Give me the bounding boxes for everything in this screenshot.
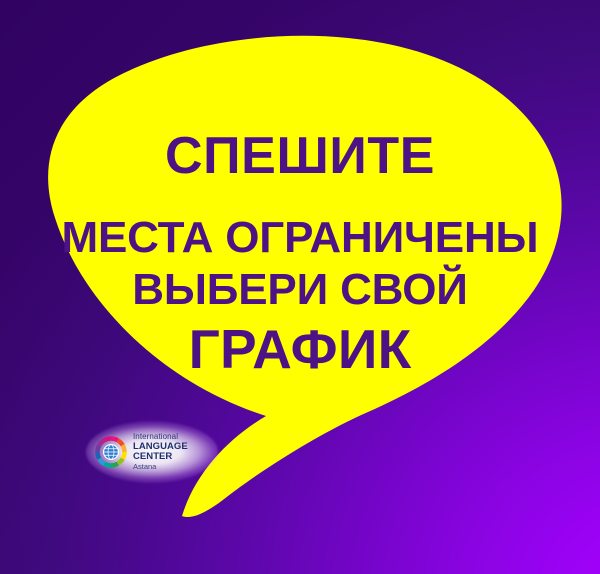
logo-badge[interactable]: International LANGUAGE CENTER Astana — [88, 424, 216, 480]
globe-icon — [94, 435, 128, 469]
speech-bubble-shape — [0, 0, 600, 574]
speech-bubble-layer — [0, 0, 600, 574]
logo-line-international: International — [133, 433, 210, 441]
logo-text: International LANGUAGE CENTER Astana — [133, 433, 210, 472]
promo-poster: СПЕШИТЕ МЕСТА ОГРАНИЧЕНЫ ВЫБЕРИ СВОЙ ГРА… — [0, 0, 600, 574]
logo-line-astana: Astana — [133, 463, 210, 471]
logo-line-language-center: LANGUAGE CENTER — [133, 442, 210, 462]
